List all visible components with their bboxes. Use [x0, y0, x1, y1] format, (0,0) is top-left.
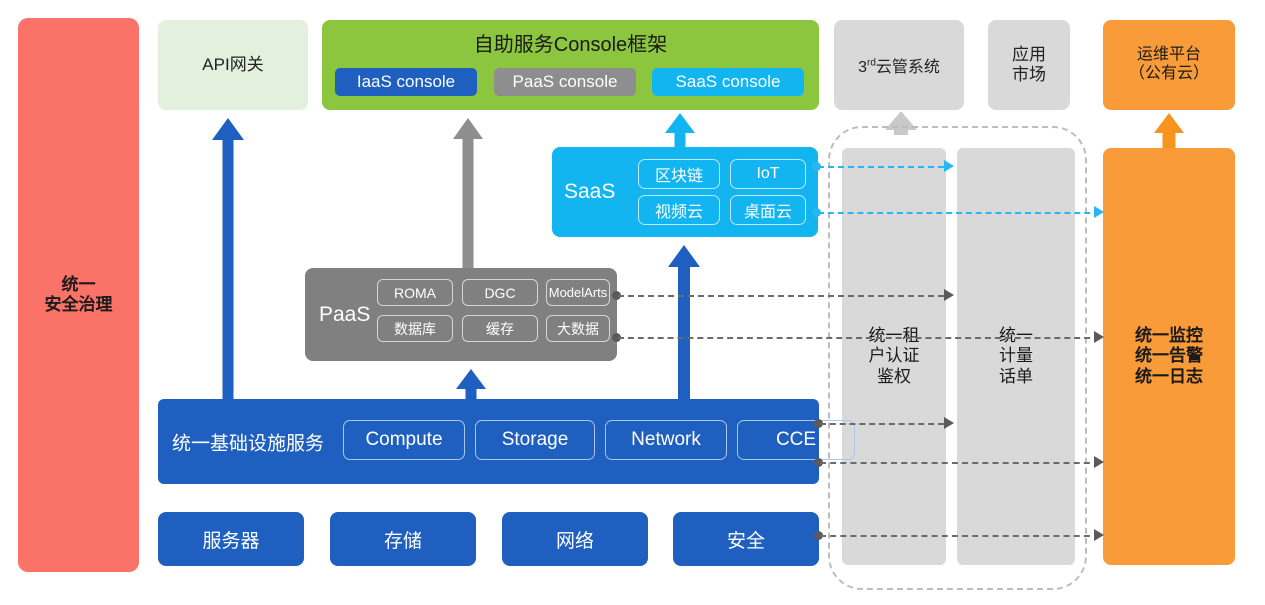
arrow-shaft [223, 138, 234, 400]
arrow-head-icon [665, 113, 695, 133]
resource-box-server[interactable]: 服务器 [158, 512, 304, 566]
paas-layer-box: PaaS ROMA DGC ModelArts 数据库 缓存 大数据 [305, 268, 617, 361]
arrow-head-icon [944, 160, 954, 172]
saas-layer-box: SaaS 区块链 IoT 视频云 桌面云 [552, 147, 818, 237]
connector-resources-to-ops [820, 535, 1100, 537]
arrow-shaft [463, 137, 474, 268]
app-market-box[interactable]: 应用 市场 [988, 20, 1070, 110]
api-gateway-label: API网关 [202, 55, 263, 75]
arrow-head-icon [456, 369, 486, 389]
console-frame: 自助服务Console框架 IaaS console PaaS console … [322, 20, 819, 110]
paas-item-dgc[interactable]: DGC [462, 279, 538, 306]
arrow-head-icon [944, 289, 954, 301]
saas-item-video-cloud[interactable]: 视频云 [638, 195, 720, 225]
arrow-head-icon [944, 417, 954, 429]
arrow-infra-to-paas [455, 369, 487, 400]
connector-saas-to-ops [818, 212, 1100, 214]
infra-item-cce[interactable]: CCE [737, 420, 855, 460]
paas-item-bigdata[interactable]: 大数据 [546, 315, 610, 342]
arrow-head-icon [1094, 206, 1104, 218]
architecture-diagram: 统一 安全治理 API网关 自助服务Console框架 IaaS console… [0, 0, 1265, 605]
console-frame-title: 自助服务Console框架 [322, 28, 819, 57]
connector-infra-to-ops [820, 462, 1100, 464]
infra-item-compute[interactable]: Compute [343, 420, 465, 460]
unified-metering-label: 统一 计量 话单 [999, 326, 1033, 386]
unified-tenant-auth-column[interactable]: 统一租 户认证 鉴权 [842, 148, 946, 565]
resource-box-network[interactable]: 网络 [502, 512, 648, 566]
ops-platform-column[interactable]: 统一监控 统一告警 统一日志 [1103, 148, 1235, 565]
saas-item-desktop-cloud[interactable]: 桌面云 [730, 195, 806, 225]
paas-item-modelarts[interactable]: ModelArts [546, 279, 610, 306]
third-party-cloud-mgmt-label: 3rd云管系统 [858, 53, 940, 77]
connector-infra-to-auth [820, 423, 944, 425]
api-gateway-box[interactable]: API网关 [158, 20, 308, 110]
arrow-head-icon [1094, 529, 1104, 541]
arrow-paas-to-console [452, 118, 484, 268]
arrow-ops-column-to-ops-top [1152, 113, 1186, 151]
saas-item-iot[interactable]: IoT [730, 159, 806, 189]
infra-item-network[interactable]: Network [605, 420, 727, 460]
arrow-saas-to-console [664, 113, 696, 149]
paas-item-roma[interactable]: ROMA [377, 279, 453, 306]
unified-infrastructure-bar: 统一基础设施服务 Compute Storage Network CCE [158, 399, 819, 484]
saas-console-chip[interactable]: SaaS console [652, 68, 804, 96]
ops-platform-column-label: 统一监控 统一告警 统一日志 [1135, 326, 1203, 386]
unified-infrastructure-label: 统一基础设施服务 [172, 428, 324, 455]
iaas-console-chip[interactable]: IaaS console [335, 68, 477, 96]
resource-box-security[interactable]: 安全 [673, 512, 819, 566]
unified-metering-column[interactable]: 统一 计量 话单 [957, 148, 1075, 565]
arrow-head-icon [1094, 456, 1104, 468]
paas-item-database[interactable]: 数据库 [377, 315, 453, 342]
connector-saas-to-auth [818, 166, 944, 168]
arrow-head-icon [668, 245, 700, 267]
ops-platform-top-label: 运维平台 （公有云） [1129, 46, 1209, 84]
connector-paas-to-ops [618, 337, 1100, 339]
arrow-head-icon [453, 118, 483, 139]
paas-layer-label: PaaS [319, 303, 370, 327]
connector-paas-to-auth [618, 295, 944, 297]
arrow-infra-to-api-gateway [212, 118, 244, 400]
security-governance-label: 统一 安全治理 [45, 275, 113, 315]
arrow-head-icon [212, 118, 244, 140]
app-market-label: 应用 市场 [1012, 45, 1046, 85]
infra-item-storage[interactable]: Storage [475, 420, 595, 460]
unified-tenant-auth-label: 统一租 户认证 鉴权 [869, 326, 920, 386]
ops-platform-top-box[interactable]: 运维平台 （公有云） [1103, 20, 1235, 110]
arrow-shaft [678, 265, 690, 400]
arrow-infra-to-saas [668, 245, 700, 400]
paas-item-cache[interactable]: 缓存 [462, 315, 538, 342]
arrow-head-icon [1094, 331, 1104, 343]
third-party-cloud-mgmt-box[interactable]: 3rd云管系统 [834, 20, 964, 110]
security-governance-column[interactable]: 统一 安全治理 [18, 18, 139, 572]
resource-box-storage[interactable]: 存储 [330, 512, 476, 566]
saas-layer-label: SaaS [564, 180, 615, 204]
arrow-head-icon [1154, 113, 1184, 133]
ordinal-suffix: rd [867, 58, 876, 69]
paas-console-chip[interactable]: PaaS console [494, 68, 636, 96]
saas-item-blockchain[interactable]: 区块链 [638, 159, 720, 189]
